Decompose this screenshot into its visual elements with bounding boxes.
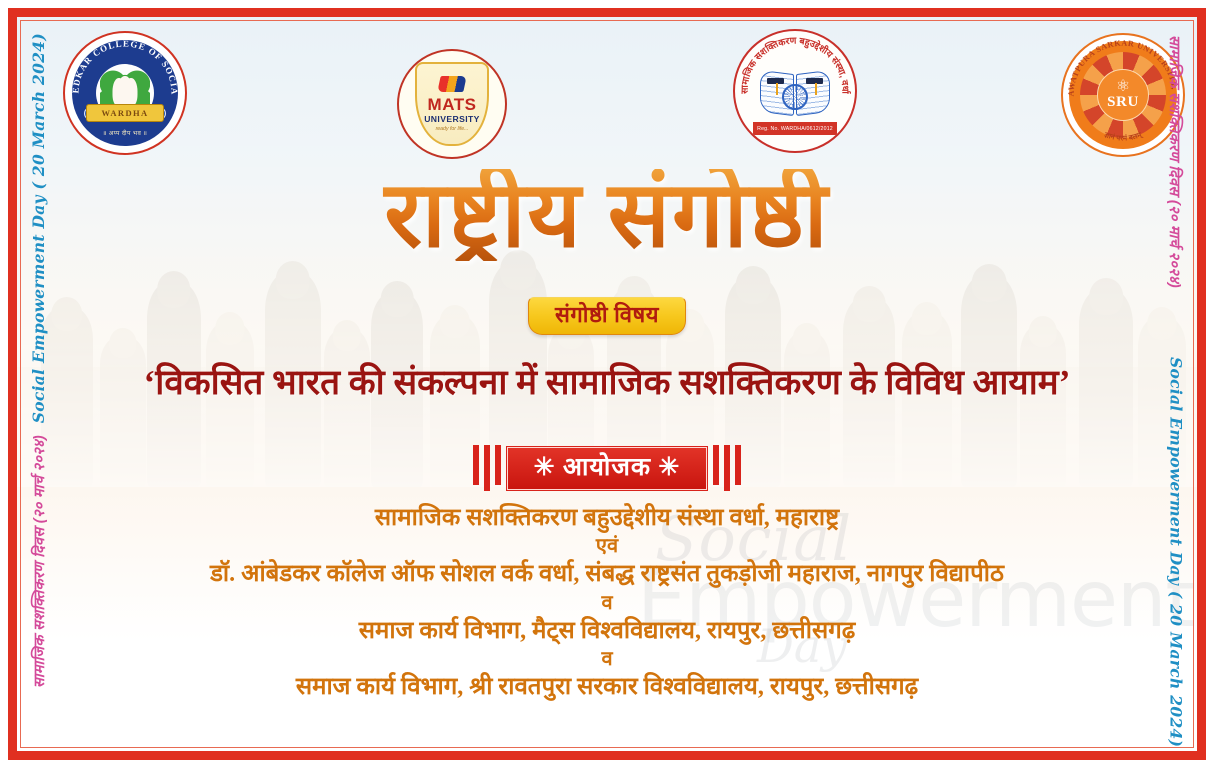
- ambedkar-motto: ॥ अप्प दीप भव ॥: [72, 129, 178, 137]
- logo-mats-university: MATS UNIVERSITY ready for life...: [397, 49, 507, 159]
- ambedkar-logo-ring: WARDHA ॥ अप्प दीप भव ॥ DR. AMBEDKAR COLL…: [63, 31, 187, 155]
- seminar-theme: ‘विकसित भारत की संकल्पना में सामाजिक सशक…: [41, 363, 1173, 403]
- mats-name-label: MATS: [428, 96, 477, 113]
- organizer-item: सामाजिक सशक्तिकरण बहुउद्देशीय संस्था वर्…: [47, 504, 1167, 532]
- mats-logo-ring: MATS UNIVERSITY ready for life...: [397, 49, 507, 159]
- ambedkar-banner-label: WARDHA: [86, 104, 164, 122]
- logo-ambedkar-college: WARDHA ॥ अप्प दीप भव ॥ DR. AMBEDKAR COLL…: [63, 31, 187, 155]
- organizer-item: समाज कार्य विभाग, श्री रावतपुरा सरकार वि…: [47, 673, 1167, 701]
- side-text-left-english: Social Empowerment Day ( 20 March 2024): [29, 33, 48, 423]
- sanstha-registration-ribbon: Reg. No. WARDHA/0612/2012: [753, 122, 837, 135]
- side-strip-right: सामाजिक सशक्तिकरण दिवस (२० मार्च २०२४) S…: [1149, 17, 1197, 751]
- ambedkar-disc: WARDHA ॥ अप्प दीप भव ॥: [72, 40, 178, 146]
- organizer-conjunction: एवं: [47, 533, 1167, 559]
- organizer-list: सामाजिक सशक्तिकरण बहुउद्देशीय संस्था वर्…: [47, 504, 1167, 701]
- sru-core: ⚛ SRU: [1097, 69, 1149, 121]
- side-text-left-hindi: सामाजिक सशक्तिकरण दिवस (२० मार्च २०२४): [29, 435, 49, 688]
- atom-icon: ⚛: [1116, 79, 1130, 95]
- organizer-banner-label: ✳ आयोजक ✳: [507, 447, 708, 490]
- chakra-icon: [782, 84, 808, 110]
- organizer-conjunction: व: [47, 590, 1167, 616]
- side-strip-left: Social Empowerment Day ( 20 March 2024) …: [17, 17, 65, 751]
- seminar-topic-badge-wrap: संगोष्ठी विषय: [17, 297, 1197, 335]
- mats-flag-icon: [437, 76, 466, 92]
- organizer-item: डॉ. आंबेडकर कॉलेज ऑफ सोशल वर्क वर्धा, सं…: [47, 560, 1167, 588]
- page-title: राष्ट्रीय संगोष्ठी: [17, 169, 1197, 261]
- side-text-right-hindi: सामाजिक सशक्तिकरण दिवस (२० मार्च २०२४): [1165, 35, 1185, 288]
- praying-hands-icon: [118, 76, 133, 106]
- organizer-banner: ✳ आयोजक ✳: [17, 445, 1197, 491]
- logo-sanstha: Reg. No. WARDHA/0612/2012 सामाजिक सशक्ति…: [733, 29, 857, 153]
- sru-mark-label: SRU: [1107, 94, 1139, 111]
- sanstha-logo-ring: Reg. No. WARDHA/0612/2012 सामाजिक सशक्ति…: [733, 29, 857, 153]
- banner-stripes-left: [473, 445, 501, 491]
- side-text-right-english: Social Empowerment Day ( 20 March 2024): [1166, 357, 1185, 747]
- banner-stripes-right: [713, 445, 741, 491]
- mats-university-label: UNIVERSITY: [424, 114, 480, 124]
- mats-shield-icon: MATS UNIVERSITY ready for life...: [415, 62, 489, 146]
- poster-root: Social Empowerment Day WARDHA ॥ अप्प दीप…: [0, 0, 1214, 768]
- mats-tagline: ready for life...: [436, 126, 469, 132]
- organizer-item: समाज कार्य विभाग, मैट्स विश्वविद्यालय, र…: [47, 617, 1167, 645]
- poster-canvas: Social Empowerment Day WARDHA ॥ अप्प दीप…: [17, 17, 1197, 751]
- graduation-cap-right-icon: [806, 78, 823, 84]
- organizer-conjunction: व: [47, 646, 1167, 672]
- open-book-icon: [760, 72, 830, 118]
- seminar-topic-badge: संगोष्ठी विषय: [528, 297, 686, 335]
- graduation-cap-left-icon: [767, 78, 784, 84]
